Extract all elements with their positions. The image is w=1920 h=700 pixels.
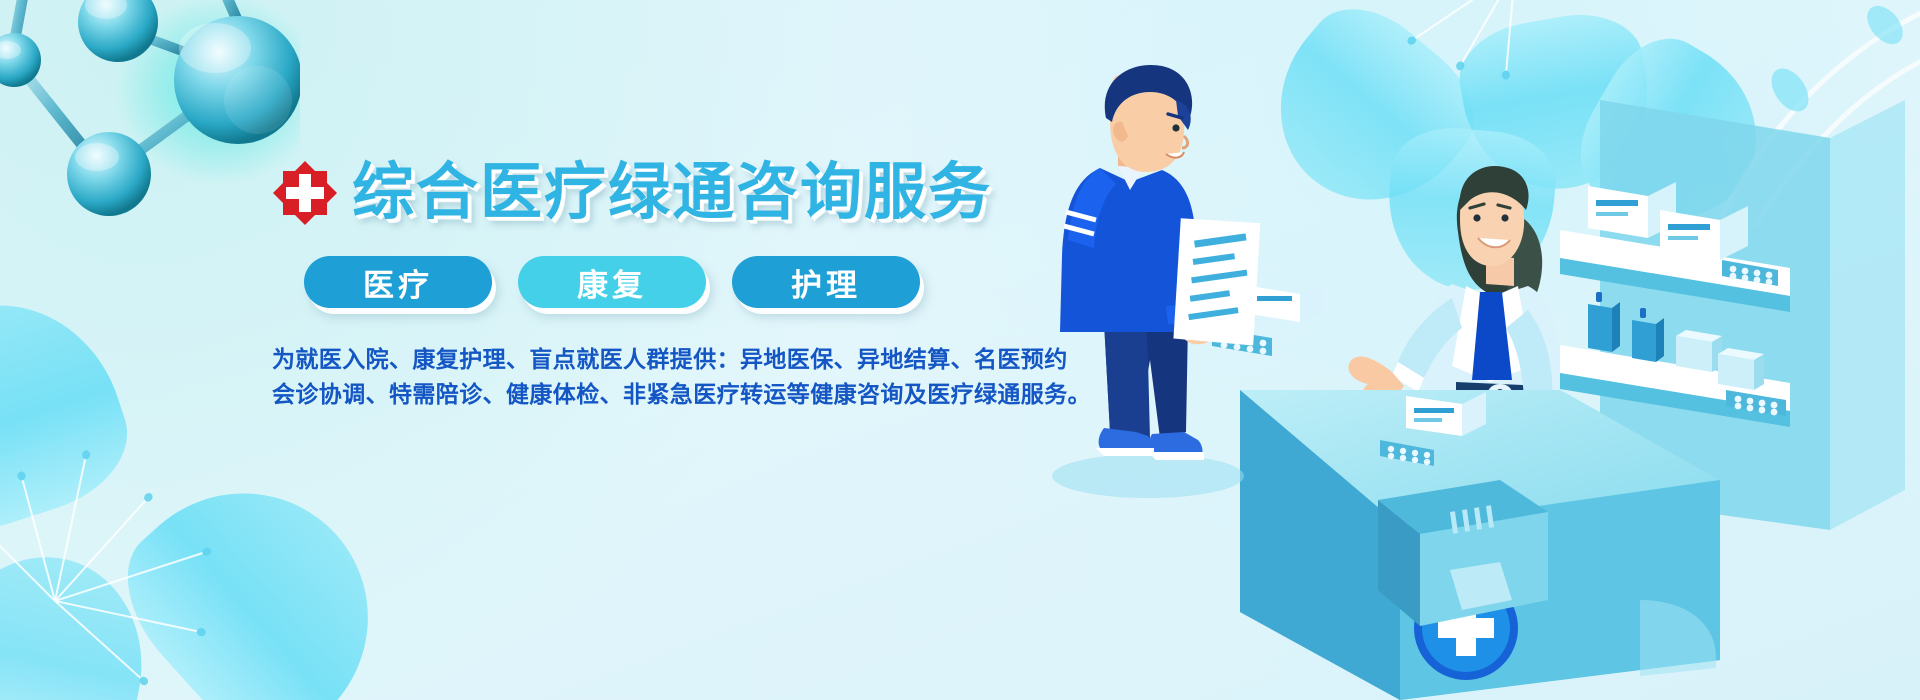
healthcare-banner: 综合医疗绿通咨询服务 医疗 康复 护理 为就医入院、康复护理、盲点就医人群提供：… [0,0,1920,700]
molecule-icon [0,0,300,220]
title-row: 综合医疗绿通咨询服务 [272,150,1012,236]
description-line-1: 为就医入院、康复护理、盲点就医人群提供：异地医保、异地结算、名医预约 [272,342,1012,377]
counter-monitor [1378,480,1548,626]
page-title: 综合医疗绿通咨询服务 [352,160,992,226]
pill-medical[interactable]: 医疗 [304,256,492,308]
pill-nursing[interactable]: 护理 [732,256,920,308]
pharmacy-counter-illustration [1000,60,1920,700]
red-cross-medical-icon [272,160,338,226]
description-line-2: 会诊协调、特需陪诊、健康体检、非紧急医疗转运等健康咨询及医疗绿通服务。 [272,377,1012,412]
banner-content: 综合医疗绿通咨询服务 医疗 康复 护理 为就医入院、康复护理、盲点就医人群提供：… [272,150,1012,412]
banner-description: 为就医入院、康复护理、盲点就医人群提供：异地医保、异地结算、名医预约 会诊协调、… [272,342,1012,412]
category-pill-row: 医疗 康复 护理 [304,256,1012,308]
pill-rehabilitation[interactable]: 康复 [518,256,706,308]
